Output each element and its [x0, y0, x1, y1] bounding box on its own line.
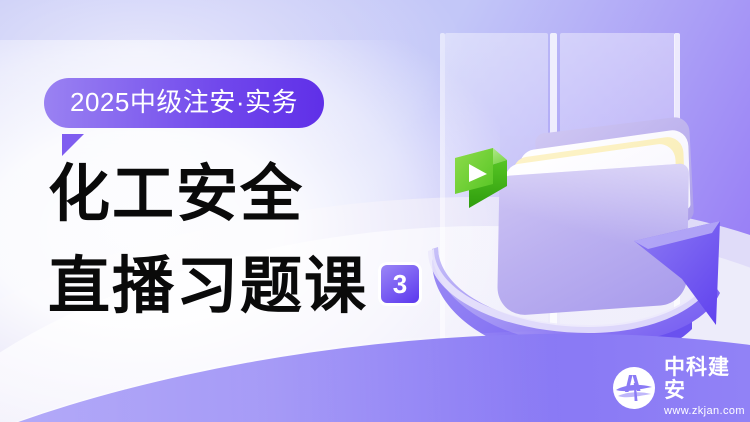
- brand-name: 中科建安: [664, 356, 750, 402]
- episode-number-badge: 3: [378, 262, 422, 306]
- pill-badge-tail: [62, 134, 84, 156]
- play-cube-icon: [453, 136, 523, 210]
- brand-text: 中科建安 www.zkjan.com: [664, 356, 750, 419]
- page-title: 化工安全 直播习题课3: [48, 160, 422, 322]
- title-line-1-text: 化工安全: [48, 161, 304, 229]
- title-line-2-text: 直播习题课: [48, 253, 368, 321]
- zkjan-circle-logo-icon: [612, 366, 656, 410]
- course-category-badge: 2025中级注安·实务: [44, 78, 324, 128]
- folder-illustration: [400, 0, 750, 360]
- course-banner: 2025中级注安·实务 化工安全 直播习题课3 中科建安 www.zkjan.c…: [0, 0, 750, 422]
- title-line-2: 直播习题课3: [48, 252, 422, 322]
- title-line-1: 化工安全: [48, 160, 422, 230]
- brand-logo: 中科建安 www.zkjan.com: [612, 356, 750, 419]
- brand-url: www.zkjan.com: [664, 404, 750, 419]
